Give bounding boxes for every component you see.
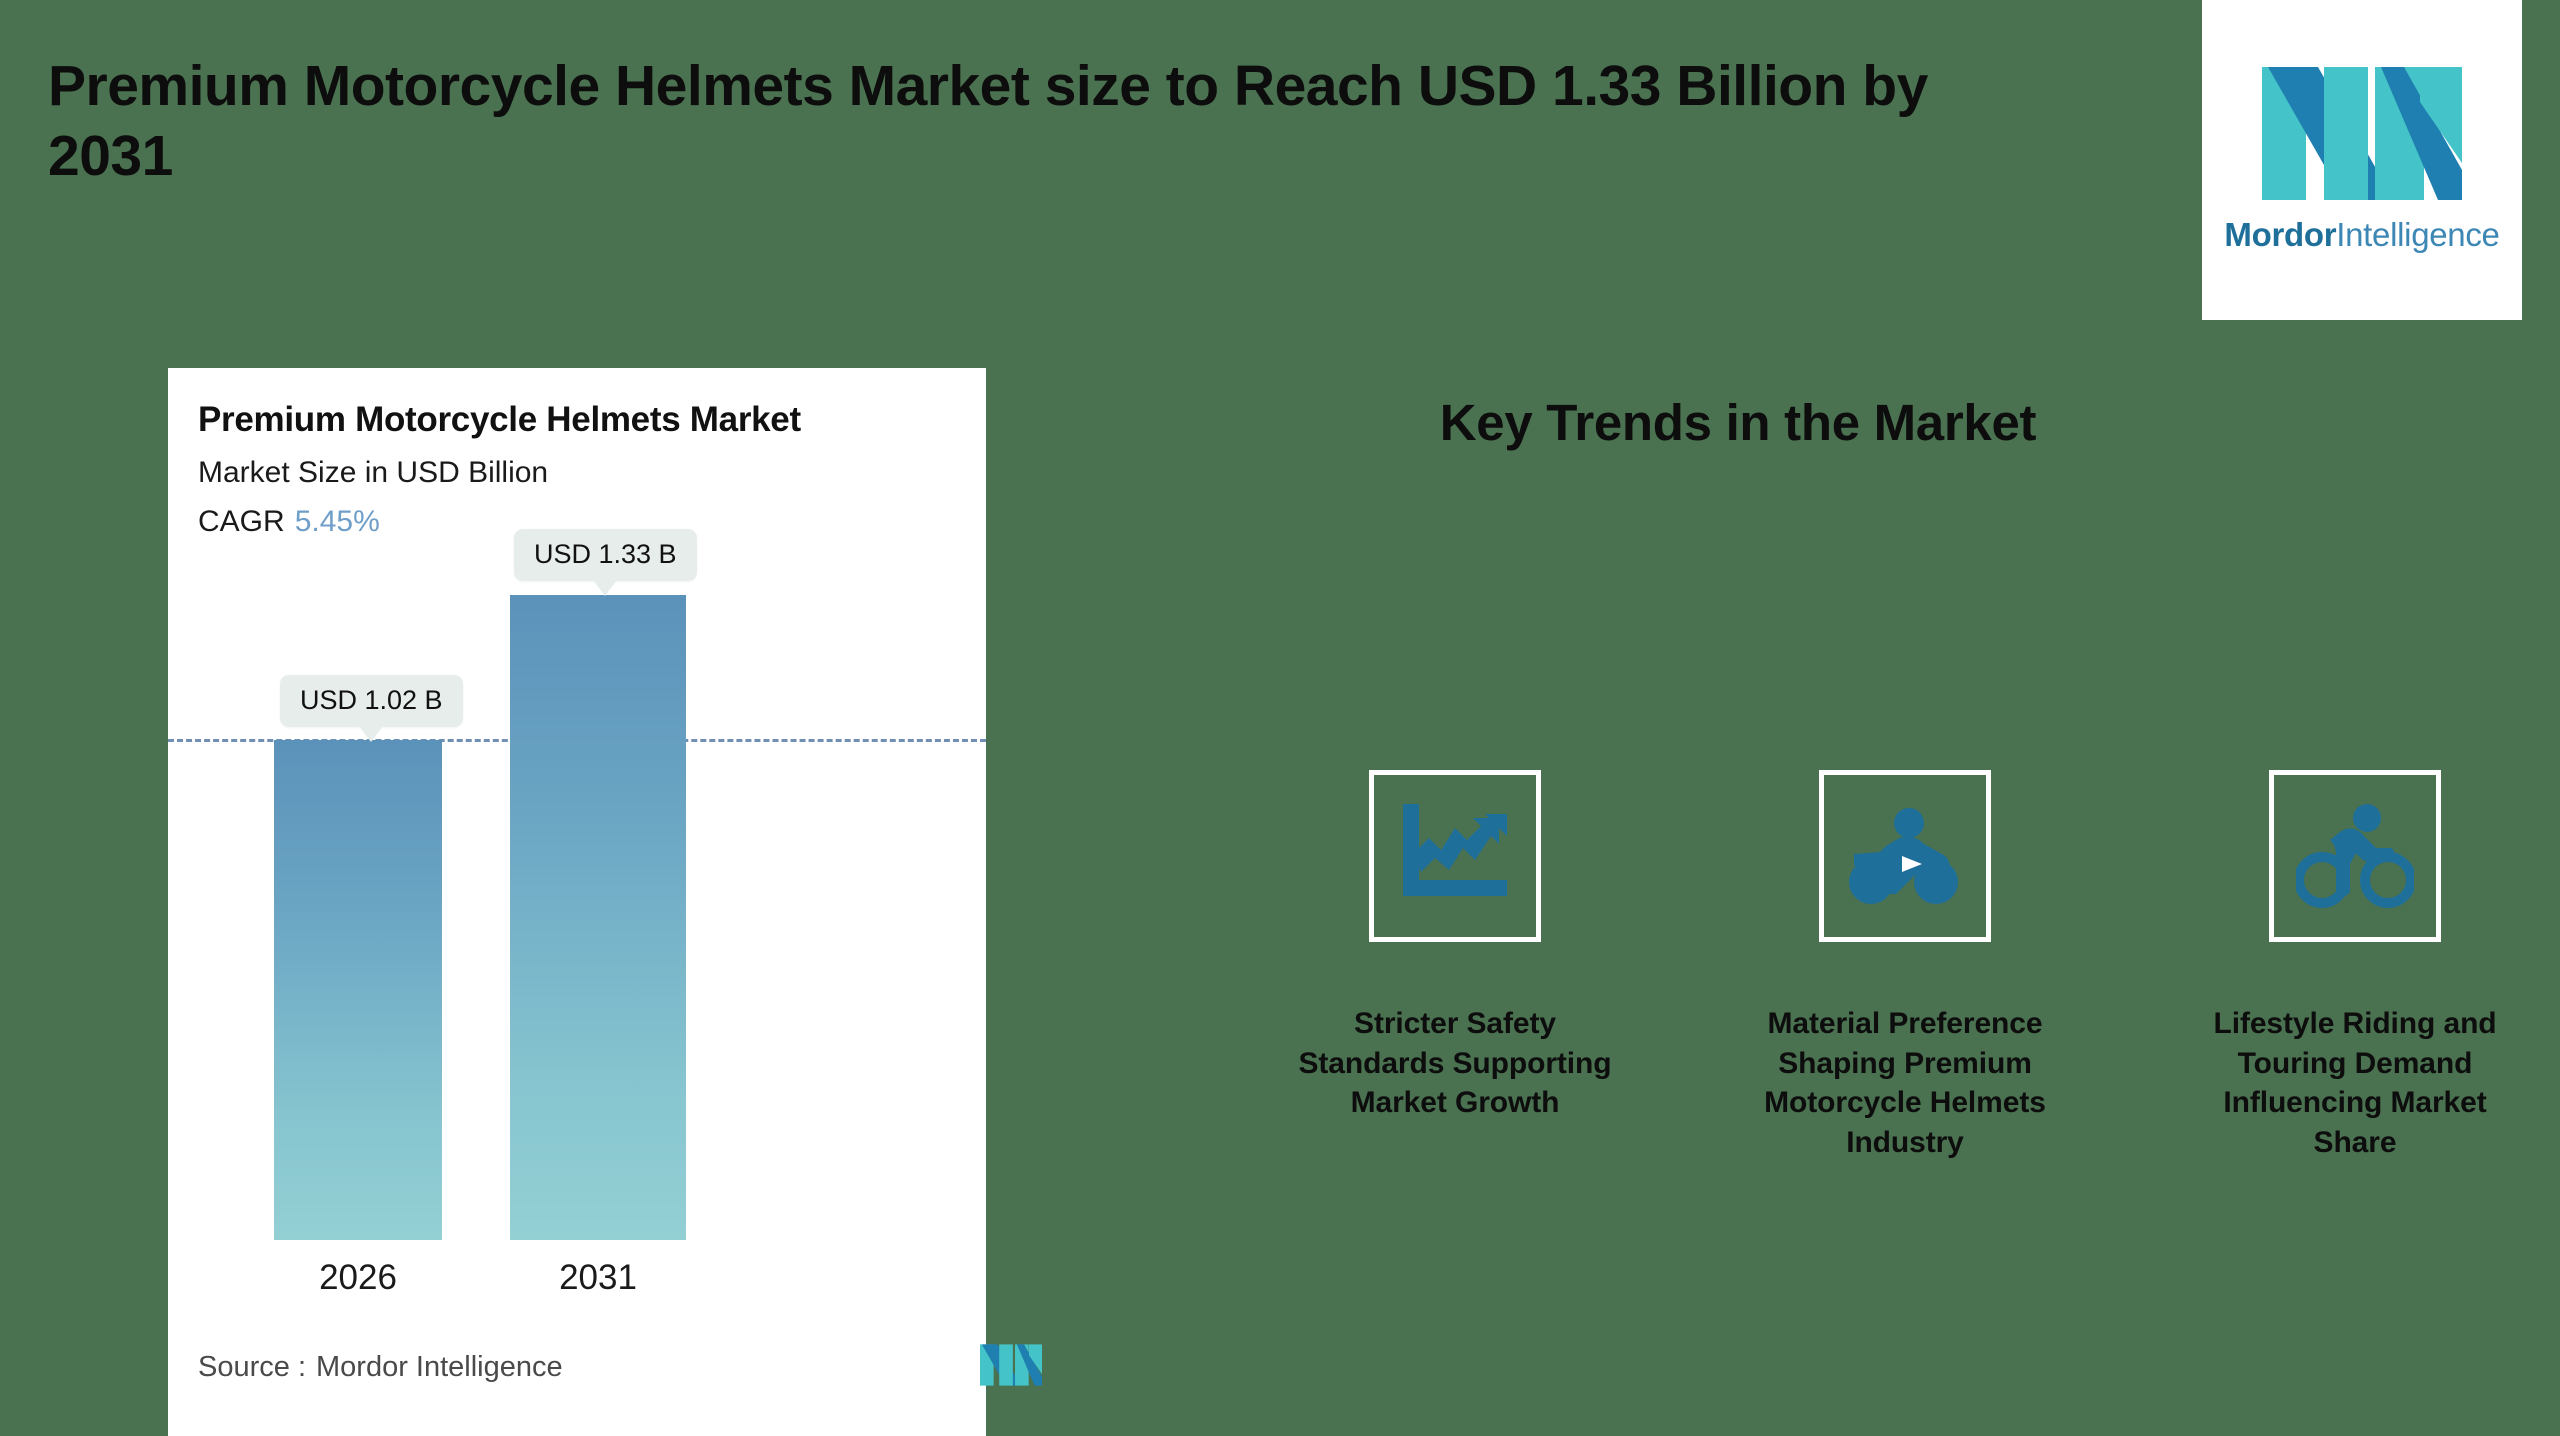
bar-2031 [510, 595, 686, 1240]
growth-chart-icon [1399, 804, 1511, 908]
mordor-m-logo-icon [980, 1344, 1042, 1386]
brand-name-bold: Mordor [2224, 216, 2336, 253]
key-trends-row: Stricter Safety Standards Supporting Mar… [1290, 770, 2520, 1162]
cyclist-icon [2296, 804, 2414, 908]
chart-subtitle: Market Size in USD Billion [198, 456, 548, 490]
market-size-chart-card: Premium Motorcycle Helmets Market Market… [168, 368, 986, 1436]
trend-item-3: Lifestyle Riding and Touring Demand Infl… [2190, 770, 2520, 1162]
motorcycle-rider-icon [1846, 806, 1964, 906]
trend-label-1: Stricter Safety Standards Supporting Mar… [1290, 1004, 1620, 1123]
trend-label-3: Lifestyle Riding and Touring Demand Infl… [2190, 1004, 2520, 1162]
bar-chart-plot-area: USD 1.02 B USD 1.33 B 2026 2031 [168, 598, 986, 1240]
chart-source: Source :Mordor Intelligence [198, 1351, 563, 1384]
brand-name-light: Intelligence [2336, 216, 2499, 253]
brand-wordmark: MordorIntelligence [2224, 216, 2499, 254]
chart-cagr: CAGR5.45% [198, 505, 380, 539]
bar-value-label-2031: USD 1.33 B [514, 529, 697, 581]
trend-icon-frame-2 [1819, 770, 1991, 942]
bar-2026 [274, 740, 442, 1240]
cagr-label: CAGR [198, 505, 285, 538]
key-trends-heading: Key Trends in the Market [1333, 393, 2143, 452]
brand-logo-card: MordorIntelligence [2202, 0, 2522, 320]
cagr-value: 5.45% [295, 505, 380, 538]
trend-item-1: Stricter Safety Standards Supporting Mar… [1290, 770, 1620, 1162]
chart-title: Premium Motorcycle Helmets Market [198, 400, 801, 440]
trend-icon-frame-3 [2269, 770, 2441, 942]
x-axis-label-2031: 2031 [510, 1258, 686, 1298]
trend-item-2: Material Preference Shaping Premium Moto… [1740, 770, 2070, 1162]
page-title: Premium Motorcycle Helmets Market size t… [48, 52, 2028, 191]
bar-value-label-2026: USD 1.02 B [280, 675, 463, 727]
trend-label-2: Material Preference Shaping Premium Moto… [1740, 1004, 2070, 1162]
trend-icon-frame-1 [1369, 770, 1541, 942]
x-axis-label-2026: 2026 [274, 1258, 442, 1298]
mordor-m-logo-icon [2262, 67, 2462, 200]
source-label: Source : [198, 1351, 306, 1383]
source-value: Mordor Intelligence [316, 1351, 563, 1383]
